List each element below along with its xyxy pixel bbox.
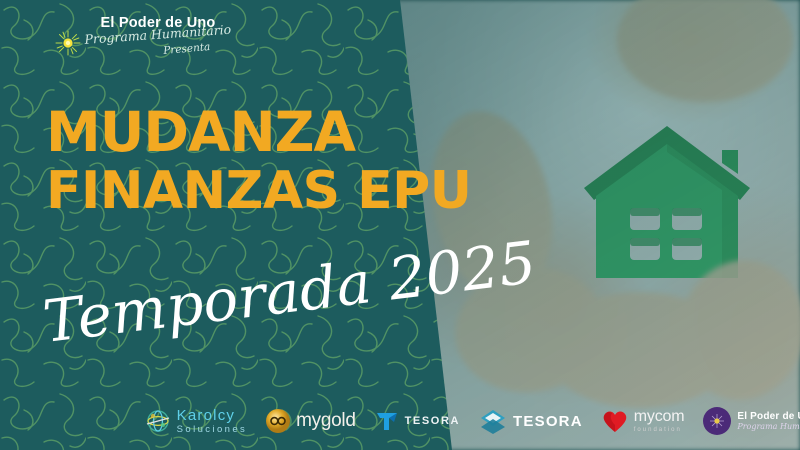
sponsor-tesora-1-name: TESORA [405,415,460,427]
layered-diamond-icon [478,406,508,436]
sponsor-row: Karolcy Soluciones mygold [0,398,800,444]
title-line-1: MUDANZA [46,100,355,164]
brand-text-block: El Poder de Uno Programa Humanitario Pre… [83,16,233,59]
title-line-2: FINANZAS EPU [46,166,486,217]
poster-canvas: El Poder de Uno Programa Humanitario Pre… [0,0,800,450]
brand-header: El Poder de Uno Programa Humanitario Pre… [55,16,235,76]
sponsor-mygold[interactable]: mygold [265,404,355,438]
sponsor-tesora-2[interactable]: TESORA [478,404,583,438]
sponsor-epu-name: El Poder de Uno [737,412,800,422]
sponsor-mycom[interactable]: mycom foundation [601,404,685,438]
sun-starburst-icon [55,30,81,56]
globe-network-icon [144,407,172,435]
purple-circle-sun-icon [702,406,732,436]
tesora-ribbon-icon [374,408,400,434]
sponsor-el-poder-de-uno[interactable]: El Poder de Uno Programa Humanitario [702,404,800,438]
sponsor-tesora-1[interactable]: TESORA [374,404,460,438]
sponsor-mygold-name: mygold [296,410,355,432]
infinity-circle-icon [265,408,291,434]
sponsor-mycom-name: mycom [634,409,685,425]
sponsor-epu-subtitle: Programa Humanitario [737,423,800,431]
sponsor-tesora-2-name: TESORA [513,413,583,430]
brand-presents: Presenta [141,40,234,58]
season-script: Temporada 2025 [40,280,460,370]
sponsor-karolcy-name: Karolcy [177,408,247,423]
sponsor-mycom-subtitle: foundation [634,427,685,433]
heart-icon [601,408,629,434]
poster-title: MUDANZA FINANZAS EPU [46,106,486,217]
sponsor-karolcy[interactable]: Karolcy Soluciones [144,404,247,438]
sponsor-karolcy-subtitle: Soluciones [177,425,247,435]
